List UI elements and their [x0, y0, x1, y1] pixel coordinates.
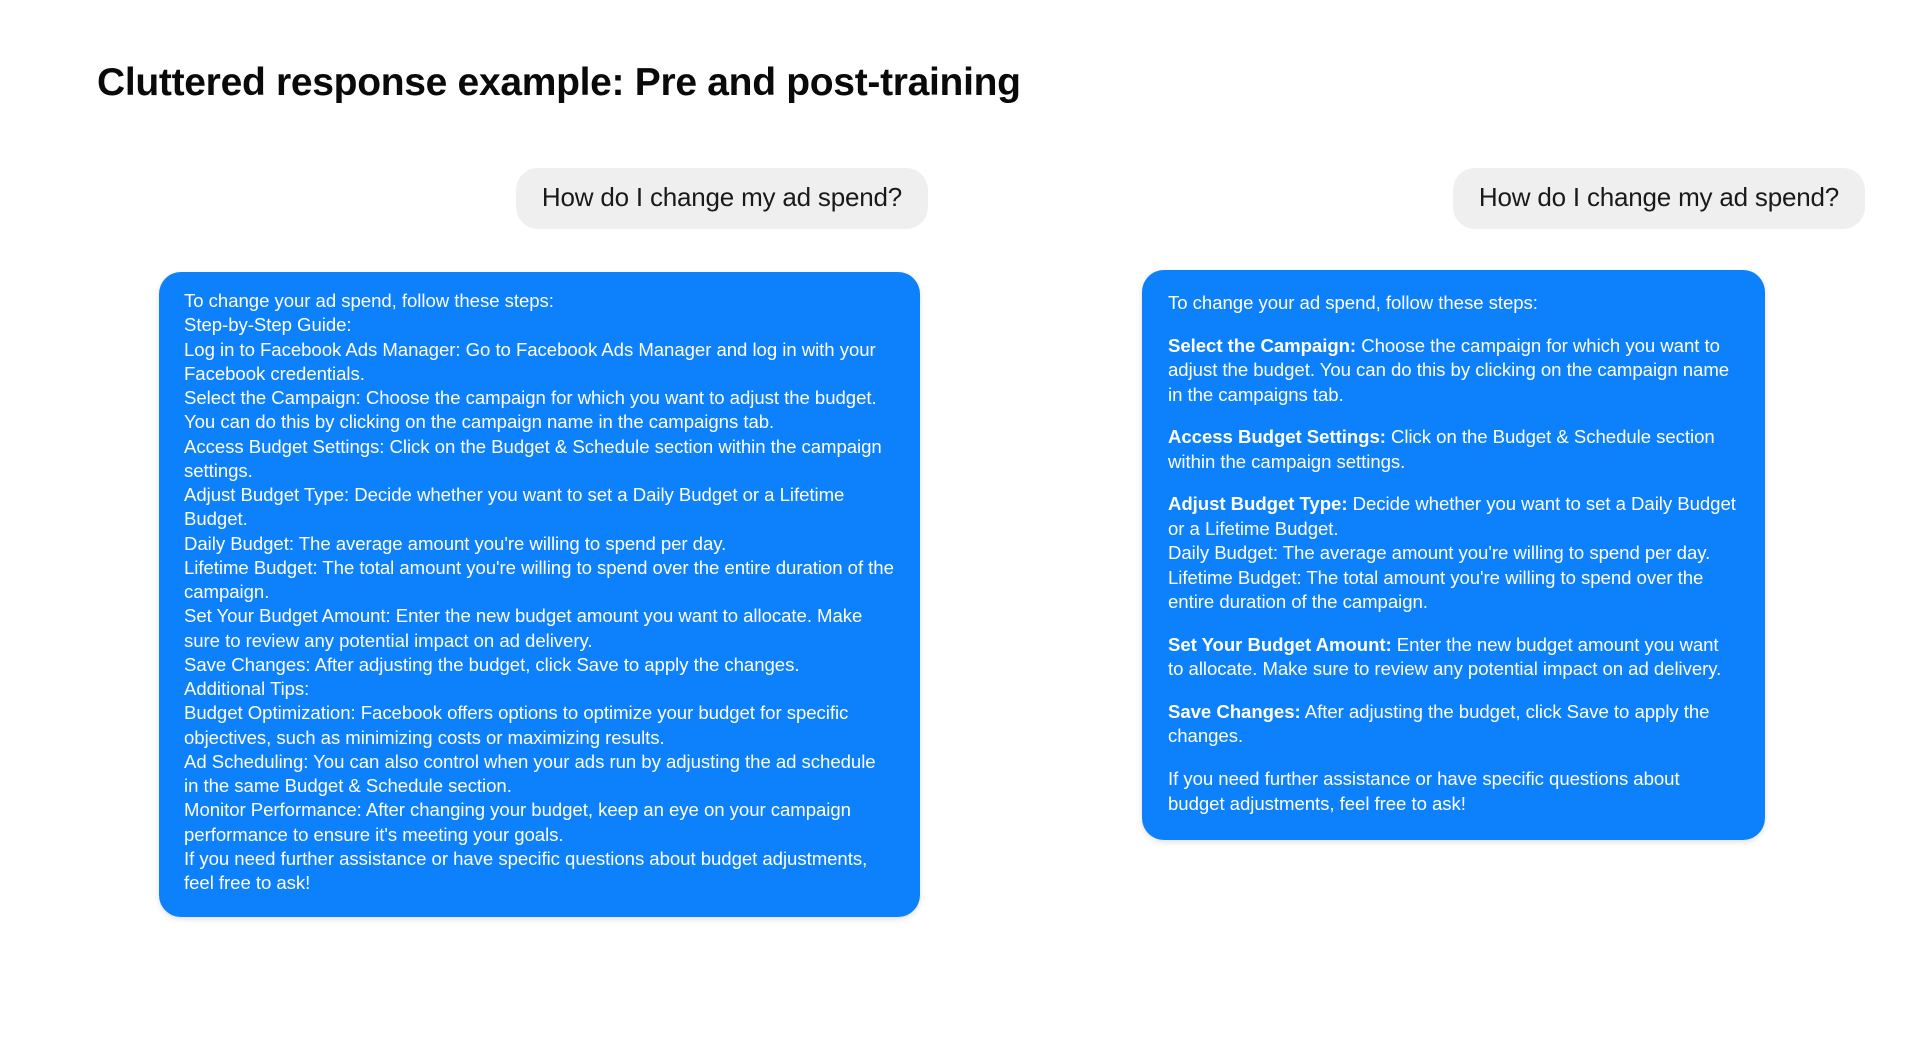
paragraph-spacer [1168, 749, 1739, 767]
step-heading: Save Changes: [1168, 701, 1301, 722]
assistant-message-line: Lifetime Budget: The total amount you're… [1168, 566, 1739, 615]
assistant-message-line: Monitor Performance: After changing your… [184, 798, 895, 847]
assistant-message-line: Lifetime Budget: The total amount you're… [184, 556, 895, 605]
assistant-message-line: Save Changes: After adjusting the budget… [184, 653, 895, 677]
assistant-message-line: Daily Budget: The average amount you're … [1168, 541, 1739, 566]
assistant-message-line: Set Your Budget Amount: Enter the new bu… [184, 604, 895, 653]
assistant-message-line: Adjust Budget Type: Decide whether you w… [184, 483, 895, 532]
assistant-message-line: Log in to Facebook Ads Manager: Go to Fa… [184, 338, 895, 387]
assistant-message-line: If you need further assistance or have s… [1168, 767, 1739, 816]
assistant-message-line: Access Budget Settings: Click on the Bud… [184, 435, 895, 484]
assistant-message-line: Select the Campaign: Choose the campaign… [184, 386, 895, 435]
step-heading: Set Your Budget Amount: [1168, 634, 1392, 655]
assistant-message-line: Adjust Budget Type: Decide whether you w… [1168, 492, 1739, 541]
user-message-row-post-training: How do I change my ad spend? [1060, 168, 1865, 229]
assistant-message-line: Additional Tips: [184, 677, 895, 701]
step-heading: Adjust Budget Type: [1168, 493, 1347, 514]
assistant-message-line: Step-by-Step Guide: [184, 313, 895, 337]
paragraph-spacer [1168, 682, 1739, 700]
paragraph-spacer [1168, 615, 1739, 633]
assistant-message-bubble-pre-training: To change your ad spend, follow these st… [159, 272, 920, 917]
assistant-message-line: Access Budget Settings: Click on the Bud… [1168, 425, 1739, 474]
assistant-message-bubble-post-training: To change your ad spend, follow these st… [1142, 270, 1765, 840]
user-message-bubble-pre-training: How do I change my ad spend? [516, 168, 928, 229]
assistant-message-line: Ad Scheduling: You can also control when… [184, 750, 895, 799]
assistant-message-line: Save Changes: After adjusting the budget… [1168, 700, 1739, 749]
page-root: Cluttered response example: Pre and post… [0, 0, 1920, 1057]
paragraph-spacer [1168, 407, 1739, 425]
assistant-message-line: Select the Campaign: Choose the campaign… [1168, 334, 1739, 408]
assistant-message-line: Set Your Budget Amount: Enter the new bu… [1168, 633, 1739, 682]
step-heading: Select the Campaign: [1168, 335, 1356, 356]
user-message-row-pre-training: How do I change my ad spend? [0, 168, 928, 229]
assistant-message-line: Budget Optimization: Facebook offers opt… [184, 701, 895, 750]
assistant-message-line: Daily Budget: The average amount you're … [184, 532, 895, 556]
assistant-message-line: To change your ad spend, follow these st… [184, 289, 895, 313]
step-heading: Access Budget Settings: [1168, 426, 1386, 447]
assistant-message-line: To change your ad spend, follow these st… [1168, 291, 1739, 316]
paragraph-spacer [1168, 474, 1739, 492]
paragraph-spacer [1168, 316, 1739, 334]
user-message-bubble-post-training: How do I change my ad spend? [1453, 168, 1865, 229]
conversation-column-pre-training: How do I change my ad spend? To change y… [0, 0, 960, 1057]
assistant-message-line: If you need further assistance or have s… [184, 847, 895, 896]
